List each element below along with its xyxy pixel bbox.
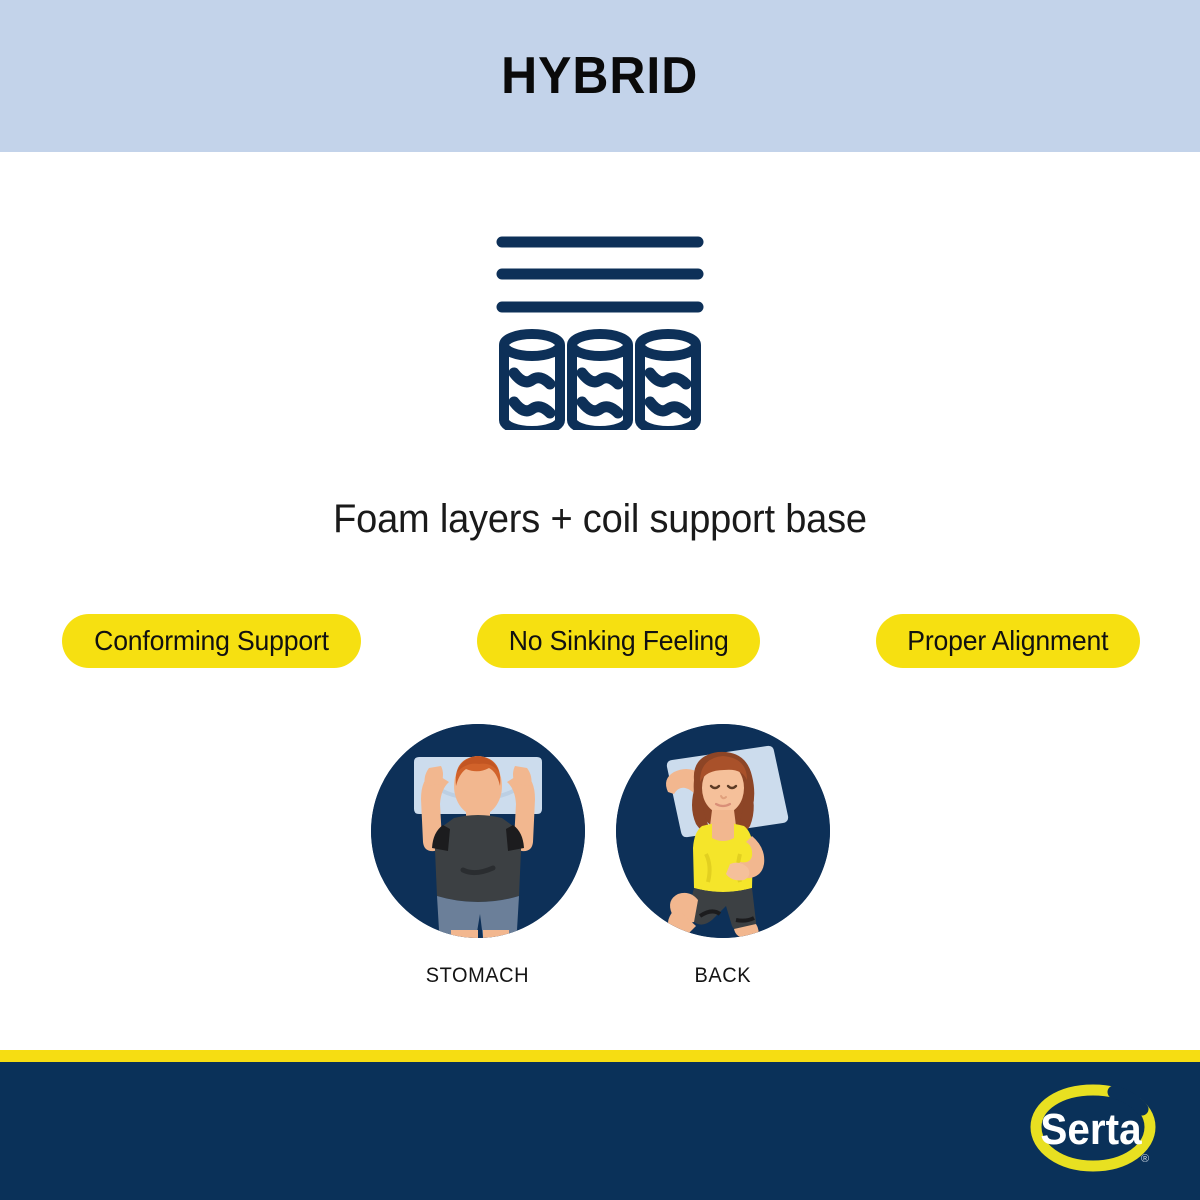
sleep-position-label-stomach: STOMACH xyxy=(426,964,529,988)
sleep-position-list: STOMACH xyxy=(0,724,1200,988)
sleep-position-label-back: BACK xyxy=(694,964,751,988)
stomach-sleeper-circle xyxy=(371,724,585,938)
feature-pill-list: Conforming Support No Sinking Feeling Pr… xyxy=(62,614,1140,668)
tank-top xyxy=(693,822,753,892)
feature-pill-no-sinking-feeling[interactable]: No Sinking Feeling xyxy=(477,614,760,668)
stomach-sleeper-illustration xyxy=(371,724,585,938)
back-sleeper-illustration xyxy=(616,724,830,938)
coil-cylinder-1 xyxy=(504,334,560,430)
subtitle-text: Foam layers + coil support base xyxy=(30,497,1170,542)
coil-cylinder-2 xyxy=(572,334,628,430)
feature-pill-conforming-support[interactable]: Conforming Support xyxy=(62,614,361,668)
serta-wordmark: Serta xyxy=(1040,1104,1142,1153)
serta-trademark-symbol: ® xyxy=(1141,1153,1149,1165)
foam-layer-lines xyxy=(502,242,698,307)
feature-pill-label: No Sinking Feeling xyxy=(509,625,729,657)
back-sleeper-circle xyxy=(616,724,830,938)
feature-pill-proper-alignment[interactable]: Proper Alignment xyxy=(876,614,1140,668)
footer-bar xyxy=(0,1062,1200,1200)
coil-cylinder-3 xyxy=(640,334,696,430)
serta-logo[interactable]: Serta ® xyxy=(1028,1082,1158,1180)
feature-pill-label: Proper Alignment xyxy=(908,625,1109,657)
page-title: HYBRID xyxy=(501,50,698,102)
footer-yellow-stripe xyxy=(0,1050,1200,1062)
head xyxy=(454,756,502,816)
header-band: HYBRID xyxy=(0,0,1200,152)
coil-cylinders xyxy=(504,334,696,430)
hybrid-mattress-icon-wrapper xyxy=(0,212,1200,430)
torso-shirt xyxy=(432,815,524,902)
serta-logo-mark: Serta ® xyxy=(1028,1082,1158,1180)
main-content: Foam layers + coil support base Conformi… xyxy=(0,152,1200,1050)
sleep-position-back[interactable]: BACK xyxy=(616,724,830,988)
hybrid-mattress-icon xyxy=(494,212,706,430)
sleep-position-stomach[interactable]: STOMACH xyxy=(371,724,585,988)
feature-pill-label: Conforming Support xyxy=(94,625,329,657)
